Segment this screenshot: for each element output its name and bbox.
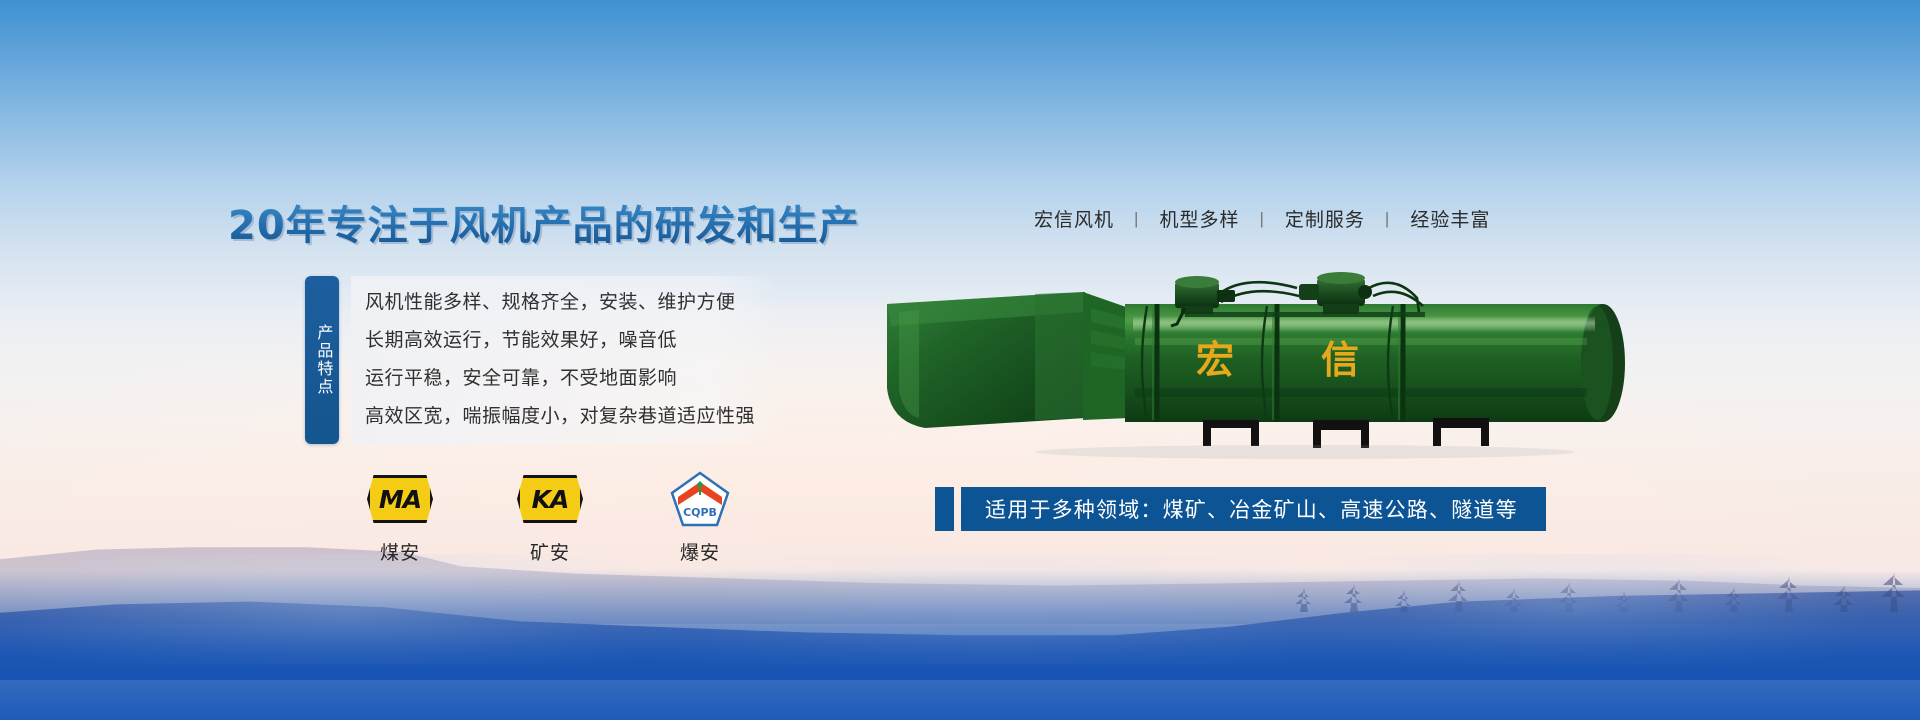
application-banner-text: 适用于多种领域：煤矿、冶金矿山、高速公路、隧道等	[961, 487, 1546, 531]
cqpb-text: CQPB	[683, 506, 717, 519]
ka-shield-text: KA	[532, 487, 569, 512]
certification-item-ma: MA 煤安	[325, 470, 475, 565]
certification-item-cqpb: CQPB 爆安	[625, 470, 775, 565]
feature-line: 运行平稳，安全可靠，不受地面影响	[365, 360, 755, 398]
tagline-separator: |	[1259, 209, 1264, 229]
certification-list: MA 煤安 KA 矿安 CQPB	[325, 470, 775, 565]
page-title: 20年专注于风机产品的研发和生产	[228, 193, 860, 251]
product-features-block: 产品特点 风机性能多样、规格齐全，安装、维护方便 长期高效运行，节能效果好，噪音…	[305, 276, 777, 444]
feature-line: 长期高效运行，节能效果好，噪音低	[365, 322, 755, 360]
feature-line: 风机性能多样、规格齐全，安装、维护方便	[365, 284, 755, 322]
tagline-item-3: 经验丰富	[1408, 205, 1492, 232]
brand-char-1: 宏	[1196, 338, 1234, 382]
certification-label: 矿安	[475, 538, 625, 565]
application-banner-accent-bar	[935, 487, 954, 531]
mounting-feet	[1203, 418, 1489, 448]
tagline-separator: |	[1385, 209, 1390, 229]
product-image-ventilation-fan: 宏 信	[885, 268, 1645, 460]
ma-shield-text: MA	[379, 487, 421, 512]
tagline-item-1: 机型多样	[1157, 205, 1241, 232]
certification-label: 煤安	[325, 538, 475, 565]
tagline-item-0: 宏信风机	[1032, 205, 1116, 232]
feature-line: 高效区宽，喘振幅度小，对复杂巷道适应性强	[365, 398, 755, 436]
tagline-list: 宏信风机 | 机型多样 | 定制服务 | 经验丰富	[1032, 205, 1492, 232]
brand-char-2: 信	[1321, 338, 1359, 382]
product-features-panel: 风机性能多样、规格齐全，安装、维护方便 长期高效运行，节能效果好，噪音低 运行平…	[351, 276, 777, 444]
banner-content: 20年专注于风机产品的研发和生产 宏信风机 | 机型多样 | 定制服务 | 经验…	[0, 0, 1920, 720]
certification-item-ka: KA 矿安	[475, 470, 625, 565]
cqpb-pentagon-icon: CQPB	[625, 470, 775, 528]
ka-shield-icon: KA	[475, 470, 625, 528]
application-banner: 适用于多种领域：煤矿、冶金矿山、高速公路、隧道等	[935, 487, 1546, 531]
ma-shield-icon: MA	[325, 470, 475, 528]
tagline-item-2: 定制服务	[1283, 205, 1367, 232]
tagline-separator: |	[1134, 209, 1139, 229]
certification-label: 爆安	[625, 538, 775, 565]
product-features-badge: 产品特点	[305, 276, 339, 444]
